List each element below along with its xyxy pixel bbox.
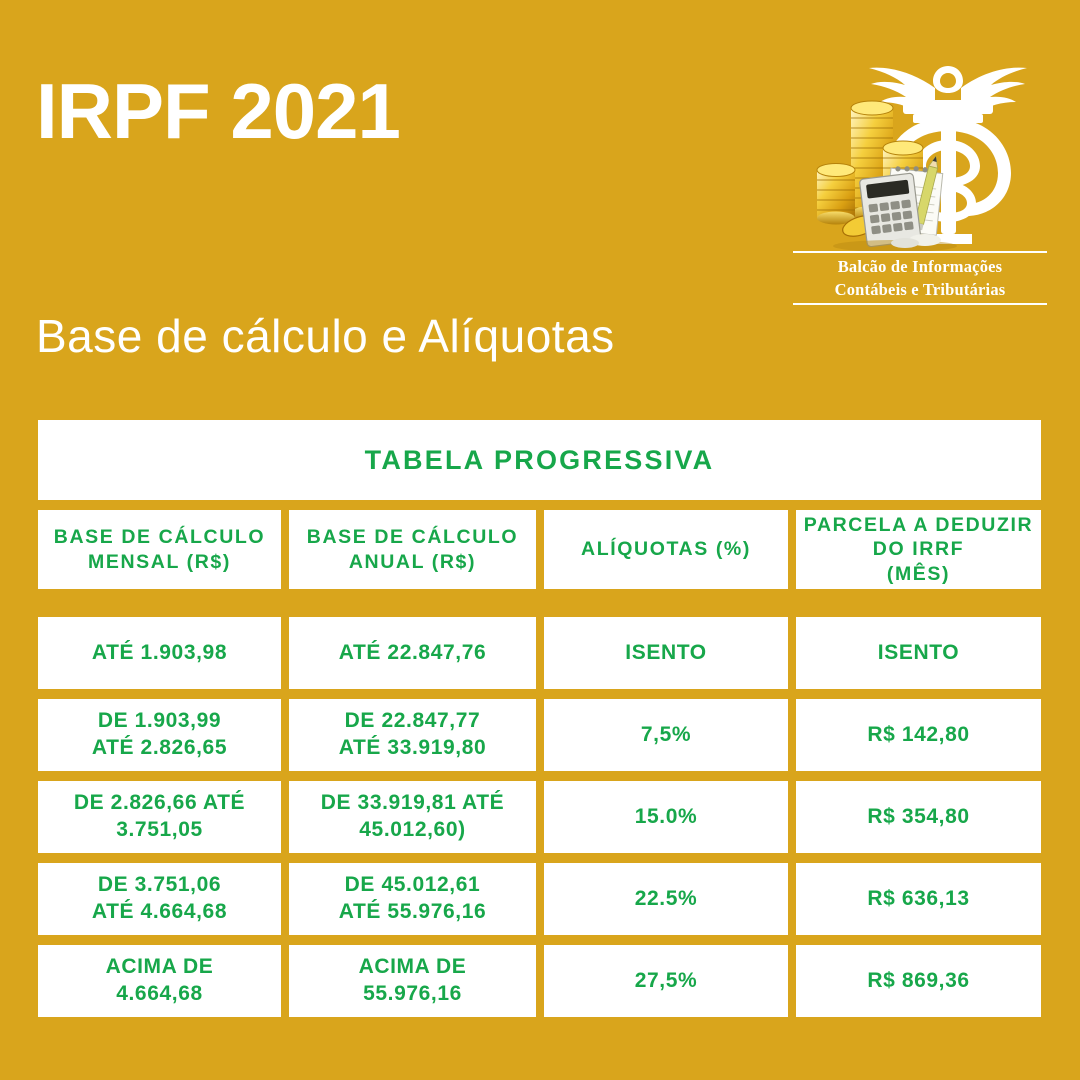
cell-base-mensal: DE 3.751,06 ATÉ 4.664,68 [38, 863, 281, 935]
cell-base-mensal: DE 1.903,99 ATÉ 2.826,65 [38, 699, 281, 771]
progressive-tax-table: TABELA PROGRESSIVA BASE DE CÁLCULO MENSA… [38, 420, 1041, 1027]
cell-base-anual: ACIMA DE 55.976,16 [289, 945, 536, 1017]
cell-base-mensal: ACIMA DE 4.664,68 [38, 945, 281, 1017]
cell-base-mensal: ATÉ 1.903,98 [38, 617, 281, 689]
page-header: IRPF 2021 Base de cálculo e Alíquotas [0, 0, 1080, 420]
table-body: ATÉ 1.903,98 ATÉ 22.847,76 ISENTO ISENTO… [38, 617, 1041, 1017]
table-row: ACIMA DE 4.664,68 ACIMA DE 55.976,16 27,… [38, 945, 1041, 1017]
cell-base-anual: DE 33.919,81 ATÉ 45.012,60) [289, 781, 536, 853]
column-header-base-mensal: BASE DE CÁLCULO MENSAL (R$) [38, 510, 281, 589]
logo: Balcão de Informações Contábeis e Tribut… [785, 48, 1055, 308]
cell-parcela: R$ 636,13 [796, 863, 1041, 935]
caduceus-icon [785, 48, 1055, 253]
cell-aliquota: 27,5% [544, 945, 788, 1017]
page-title: IRPF 2021 [36, 72, 400, 150]
cell-aliquota: 22.5% [544, 863, 788, 935]
table-title: TABELA PROGRESSIVA [38, 420, 1041, 500]
table-row: DE 2.826,66 ATÉ 3.751,05 DE 33.919,81 AT… [38, 781, 1041, 853]
logo-caption-line-2: Contábeis e Tributárias [785, 280, 1055, 303]
page-subtitle: Base de cálculo e Alíquotas [36, 313, 615, 359]
cell-base-anual: DE 22.847,77 ATÉ 33.919,80 [289, 699, 536, 771]
table-row: ATÉ 1.903,98 ATÉ 22.847,76 ISENTO ISENTO [38, 617, 1041, 689]
cell-parcela: R$ 869,36 [796, 945, 1041, 1017]
logo-rule-bottom [793, 303, 1047, 305]
table-header-row: BASE DE CÁLCULO MENSAL (R$) BASE DE CÁLC… [38, 510, 1041, 589]
cell-parcela: R$ 354,80 [796, 781, 1041, 853]
cell-base-anual: DE 45.012,61 ATÉ 55.976,16 [289, 863, 536, 935]
cell-aliquota: ISENTO [544, 617, 788, 689]
cell-base-anual: ATÉ 22.847,76 [289, 617, 536, 689]
column-header-parcela: PARCELA A DEDUZIR DO IRRF (MÊS) [796, 510, 1041, 589]
column-header-base-anual: BASE DE CÁLCULO ANUAL (R$) [289, 510, 536, 589]
table-row: DE 3.751,06 ATÉ 4.664,68 DE 45.012,61 AT… [38, 863, 1041, 935]
logo-caption: Balcão de Informações Contábeis e Tribut… [785, 251, 1055, 305]
cell-base-mensal: DE 2.826,66 ATÉ 3.751,05 [38, 781, 281, 853]
cell-aliquota: 15.0% [544, 781, 788, 853]
column-header-aliquotas: ALÍQUOTAS (%) [544, 510, 788, 589]
cell-aliquota: 7,5% [544, 699, 788, 771]
logo-caption-line-1: Balcão de Informações [785, 253, 1055, 280]
cell-parcela: R$ 142,80 [796, 699, 1041, 771]
table-row: DE 1.903,99 ATÉ 2.826,65 DE 22.847,77 AT… [38, 699, 1041, 771]
cell-parcela: ISENTO [796, 617, 1041, 689]
